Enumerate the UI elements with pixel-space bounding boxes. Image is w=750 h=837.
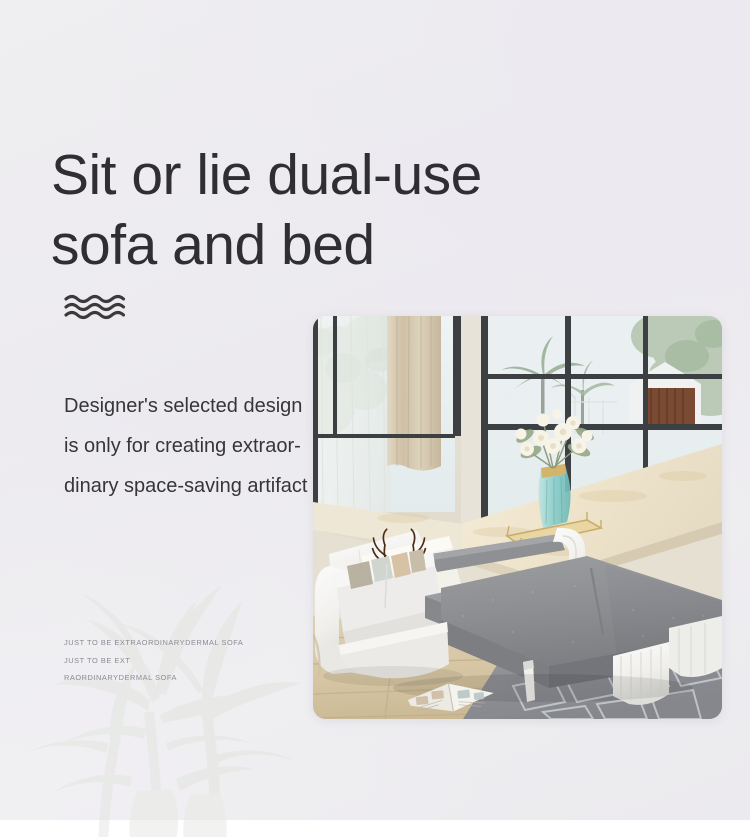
footer-caption: JUST TO BE EXTRAORDINARYDERMAL SOFA JUST… xyxy=(64,634,344,687)
product-photo xyxy=(313,316,722,719)
page-title: Sit or lie dual-use sofa and bed xyxy=(51,140,651,280)
wave-lines-icon xyxy=(64,294,134,320)
promo-banner-page: Sit or lie dual-use sofa and bed Designe… xyxy=(0,0,750,837)
